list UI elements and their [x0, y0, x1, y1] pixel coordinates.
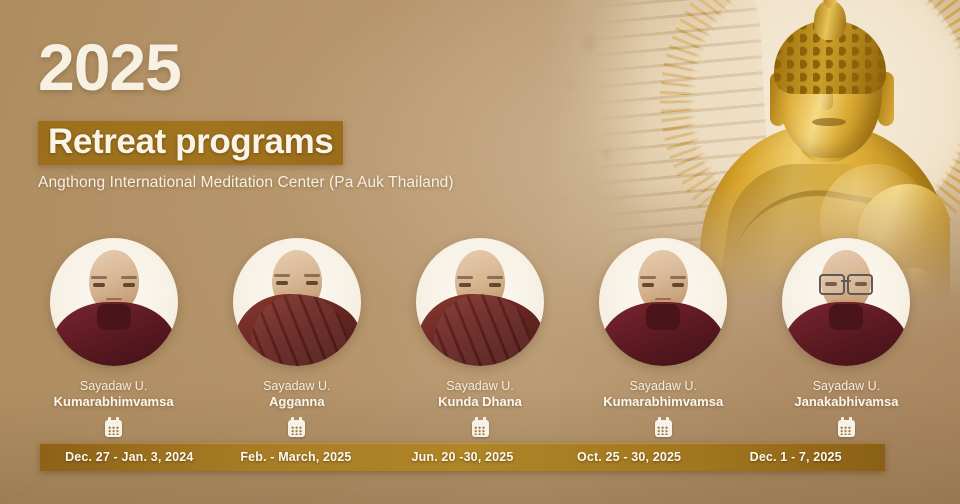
teacher-card[interactable]: Sayadaw U. Janakabhivamsa [755, 238, 938, 410]
calendar-cell [388, 420, 571, 437]
retreat-date: Feb. - March, 2025 [213, 450, 380, 464]
calendar-cell [205, 420, 388, 437]
teacher-name-text: Agganna [263, 394, 330, 410]
teacher-honorific: Sayadaw U. [603, 378, 723, 394]
page-title: Retreat programs [38, 121, 343, 165]
calendar-icon [472, 420, 489, 437]
glasses-icon [819, 274, 873, 291]
teacher-name: Sayadaw U. Kumarabhimvamsa [603, 378, 723, 410]
teacher-card[interactable]: Sayadaw U. Kumarabhimvamsa [572, 238, 755, 410]
calendar-icon [105, 420, 122, 437]
retreat-date: Dec. 27 - Jan. 3, 2024 [46, 450, 213, 464]
teacher-name: Sayadaw U. Janakabhivamsa [794, 378, 898, 410]
teacher-name: Sayadaw U. Kumarabhimvamsa [54, 378, 174, 410]
teacher-name-text: Kumarabhimvamsa [603, 394, 723, 410]
teacher-name: Sayadaw U. Agganna [263, 378, 330, 410]
retreat-date: Oct. 25 - 30, 2025 [546, 450, 713, 464]
schedule-date-bar: Dec. 27 - Jan. 3, 2024 Feb. - March, 202… [40, 443, 885, 471]
calendar-icon-row [0, 420, 960, 437]
poster-year: 2025 [38, 34, 181, 100]
page-title-text: Retreat programs [48, 125, 333, 158]
portrait-kumarabhimvamsa-1 [50, 238, 178, 366]
teacher-honorific: Sayadaw U. [54, 378, 174, 394]
teacher-card[interactable]: Sayadaw U. Agganna [205, 238, 388, 410]
poster-subtitle: Angthong International Meditation Center… [38, 174, 454, 192]
calendar-cell [22, 420, 205, 437]
portrait-janakabhivamsa [782, 238, 910, 366]
teacher-card[interactable]: Sayadaw U. Kumarabhimvamsa [22, 238, 205, 410]
teacher-honorific: Sayadaw U. [438, 378, 522, 394]
teacher-list: Sayadaw U. Kumarabhimvamsa Sayadaw U. Ag… [0, 238, 960, 410]
teacher-card[interactable]: Sayadaw U. Kunda Dhana [388, 238, 571, 410]
calendar-icon [838, 420, 855, 437]
teacher-name-text: Janakabhivamsa [794, 394, 898, 410]
calendar-cell [572, 420, 755, 437]
portrait-agganna [233, 238, 361, 366]
retreat-program-poster: 2025 Retreat programs Angthong Internati… [0, 0, 960, 504]
retreat-date: Jun. 20 -30, 2025 [379, 450, 546, 464]
teacher-name-text: Kumarabhimvamsa [54, 394, 174, 410]
teacher-name: Sayadaw U. Kunda Dhana [438, 378, 522, 410]
calendar-cell [755, 420, 938, 437]
teacher-honorific: Sayadaw U. [263, 378, 330, 394]
calendar-icon [655, 420, 672, 437]
teacher-honorific: Sayadaw U. [794, 378, 898, 394]
portrait-kumarabhimvamsa-2 [599, 238, 727, 366]
retreat-date: Dec. 1 - 7, 2025 [712, 450, 879, 464]
calendar-icon [288, 420, 305, 437]
teacher-name-text: Kunda Dhana [438, 394, 522, 410]
portrait-kunda-dhana [416, 238, 544, 366]
